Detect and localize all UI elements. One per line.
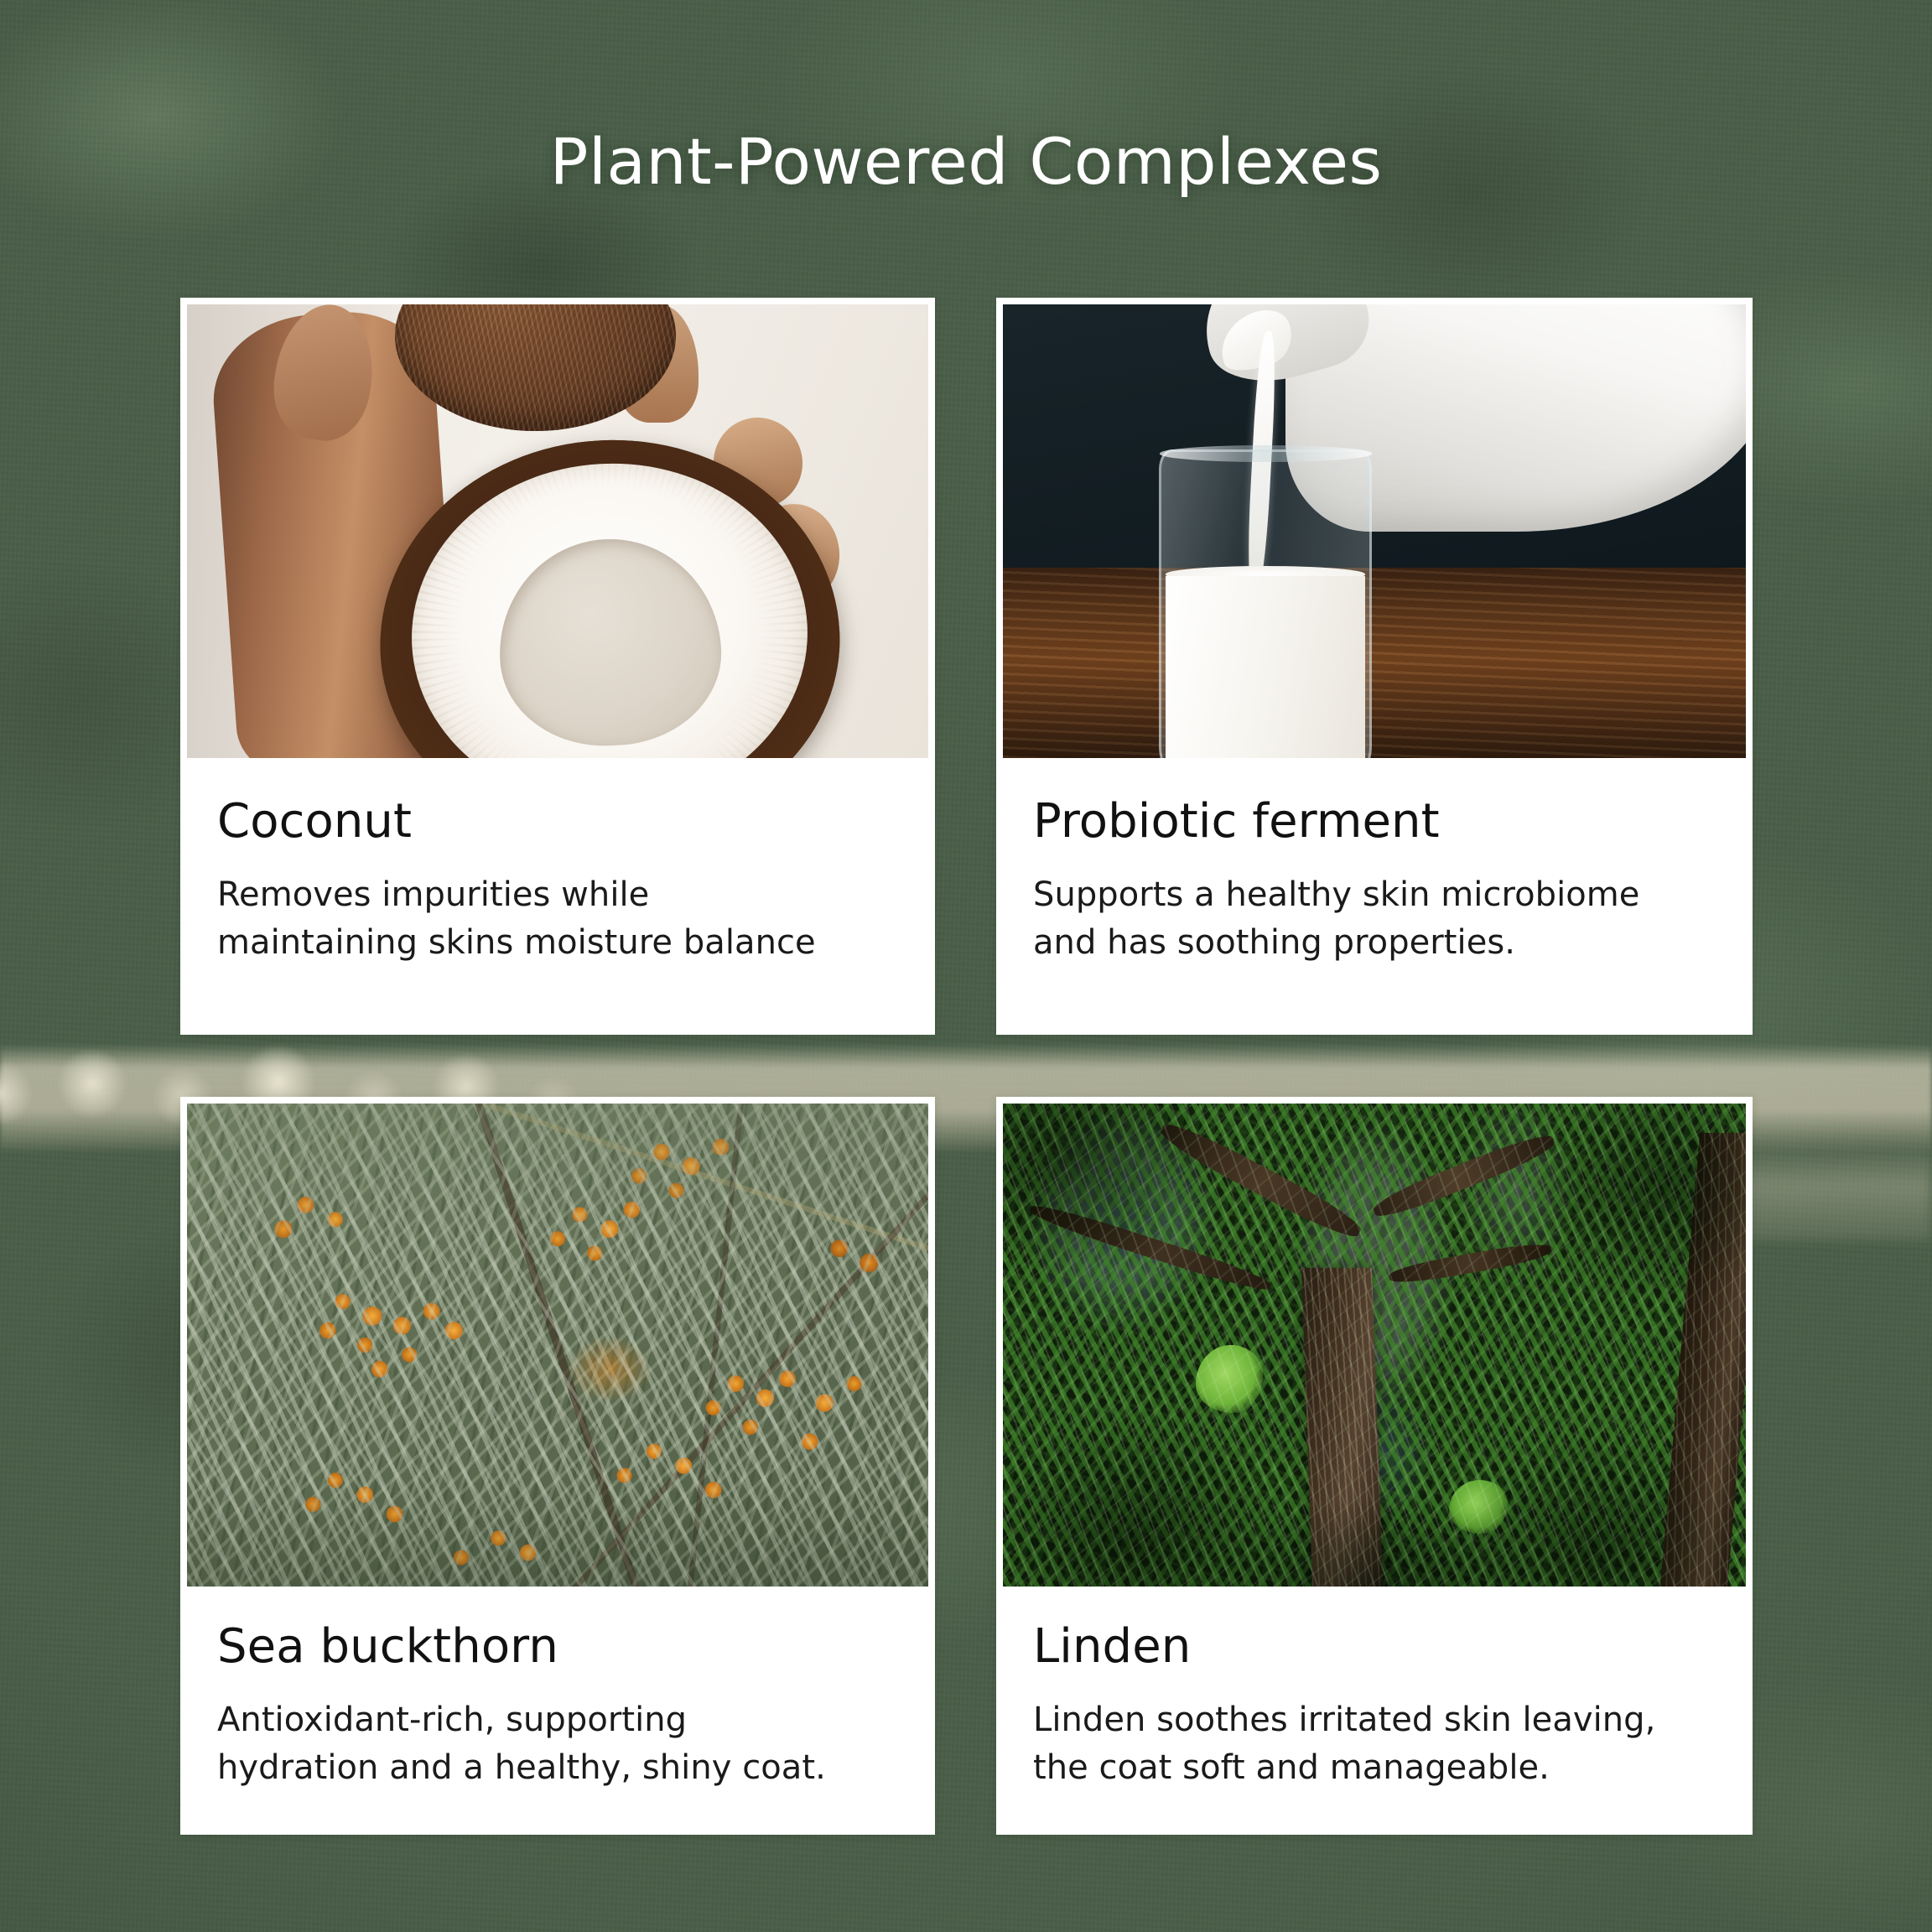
coconut-card-body: Coconut Removes impurities while maintai… <box>180 758 935 967</box>
probiotic-ferment-card-description: Supports a healthy skin microbiome and h… <box>1033 871 1716 967</box>
sea-buckthorn-photo <box>187 1104 928 1587</box>
buckthorn-depth-blur <box>187 1104 928 1587</box>
probiotic-ferment-card-title: Probiotic ferment <box>1033 797 1716 846</box>
milk-in-glass <box>1166 576 1365 758</box>
linden-light-flecks <box>1003 1104 1746 1587</box>
milk-glass <box>1159 449 1372 758</box>
ingredient-card-sea-buckthorn[interactable]: Sea buckthorn Antioxidant-rich, supporti… <box>180 1097 935 1835</box>
marketing-infographic: Plant-Powered Complexes <box>0 0 1932 1932</box>
milk-wooden-table <box>1003 568 1746 758</box>
coconut-card-description: Removes impurities while maintaining ski… <box>217 871 898 967</box>
sea-buckthorn-card-body: Sea buckthorn Antioxidant-rich, supporti… <box>180 1587 935 1792</box>
linden-card-body: Linden Linden soothes irritated skin lea… <box>996 1587 1753 1792</box>
sea-buckthorn-card-description: Antioxidant-rich, supporting hydration a… <box>217 1696 898 1792</box>
page-title: Plant-Powered Complexes <box>0 124 1932 199</box>
milk-glass-rim <box>1160 445 1372 461</box>
ingredient-card-coconut[interactable]: Coconut Removes impurities while maintai… <box>180 298 935 1035</box>
ingredient-card-grid: Coconut Removes impurities while maintai… <box>180 298 1753 1835</box>
coconut-photo <box>187 304 928 758</box>
milk-table-woodgrain <box>1003 568 1746 758</box>
ingredient-card-linden[interactable]: Linden Linden soothes irritated skin lea… <box>996 1097 1753 1835</box>
probiotic-ferment-photo <box>1003 304 1746 758</box>
linden-photo <box>1003 1104 1746 1587</box>
sea-buckthorn-card-title: Sea buckthorn <box>217 1622 898 1671</box>
probiotic-ferment-card-body: Probiotic ferment Supports a healthy ski… <box>996 758 1753 967</box>
ingredient-card-probiotic-ferment[interactable]: Probiotic ferment Supports a healthy ski… <box>996 298 1753 1035</box>
linden-card-title: Linden <box>1033 1622 1716 1671</box>
coconut-card-title: Coconut <box>217 797 898 846</box>
linden-card-description: Linden soothes irritated skin leaving, t… <box>1033 1696 1716 1792</box>
